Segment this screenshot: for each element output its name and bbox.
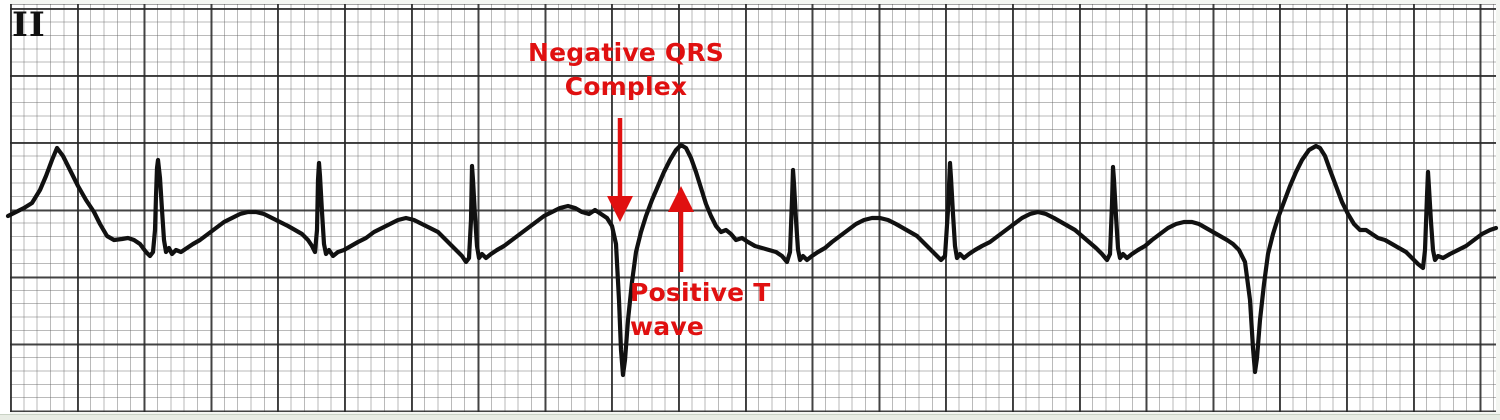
ecg-rhythm-strip-figure: II Negative QRS Complex Positive T wave — [0, 0, 1500, 420]
paper-bottom-edge — [0, 414, 1500, 420]
lead-label: II — [12, 6, 46, 44]
ecg-waveform-trace — [0, 0, 1500, 420]
ecg-trace-path — [8, 145, 1496, 375]
